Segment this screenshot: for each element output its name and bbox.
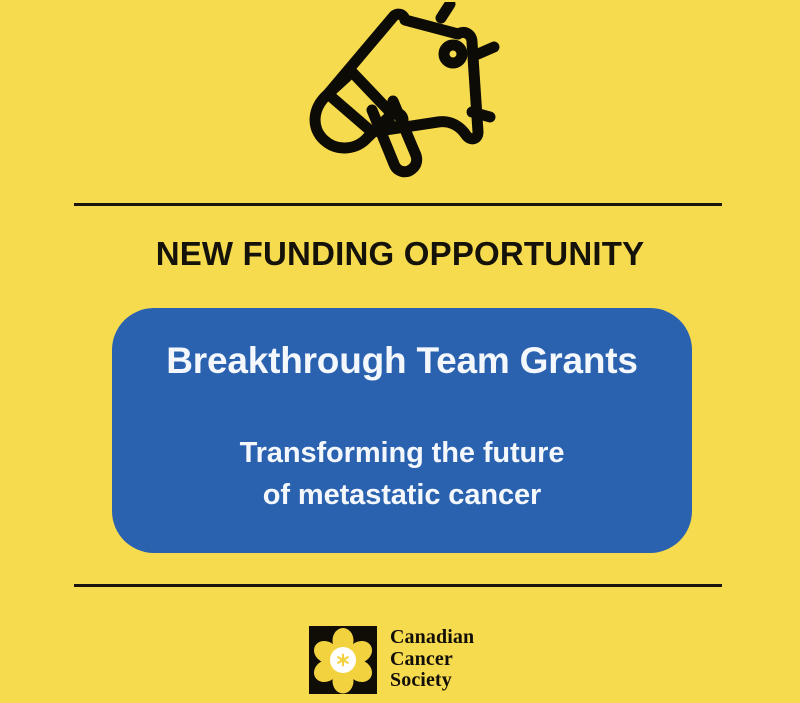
page-title: NEW FUNDING OPPORTUNITY	[0, 234, 800, 274]
logo-wordmark: Canadian Cancer Society	[390, 627, 474, 693]
grant-card-subtitle-line-1: Transforming the future	[112, 432, 692, 474]
logo-line-1: Canadian	[390, 627, 474, 649]
canadian-cancer-society-logo: Canadian Cancer Society	[309, 626, 474, 694]
grant-card-title: Breakthrough Team Grants	[112, 338, 692, 384]
grant-card: Breakthrough Team Grants Transforming th…	[112, 308, 692, 553]
logo-line-2: Cancer	[390, 649, 474, 671]
announcement-poster: NEW FUNDING OPPORTUNITY Breakthrough Tea…	[0, 0, 800, 703]
logo-line-3: Society	[390, 670, 474, 692]
megaphone-icon	[300, 2, 510, 182]
daffodil-logo-mark	[309, 626, 377, 694]
grant-card-subtitle-line-2: of metastatic cancer	[112, 474, 692, 516]
grant-card-subtitle: Transforming the future of metastatic ca…	[112, 432, 692, 516]
divider-bottom	[74, 584, 722, 587]
divider-top	[74, 203, 722, 206]
